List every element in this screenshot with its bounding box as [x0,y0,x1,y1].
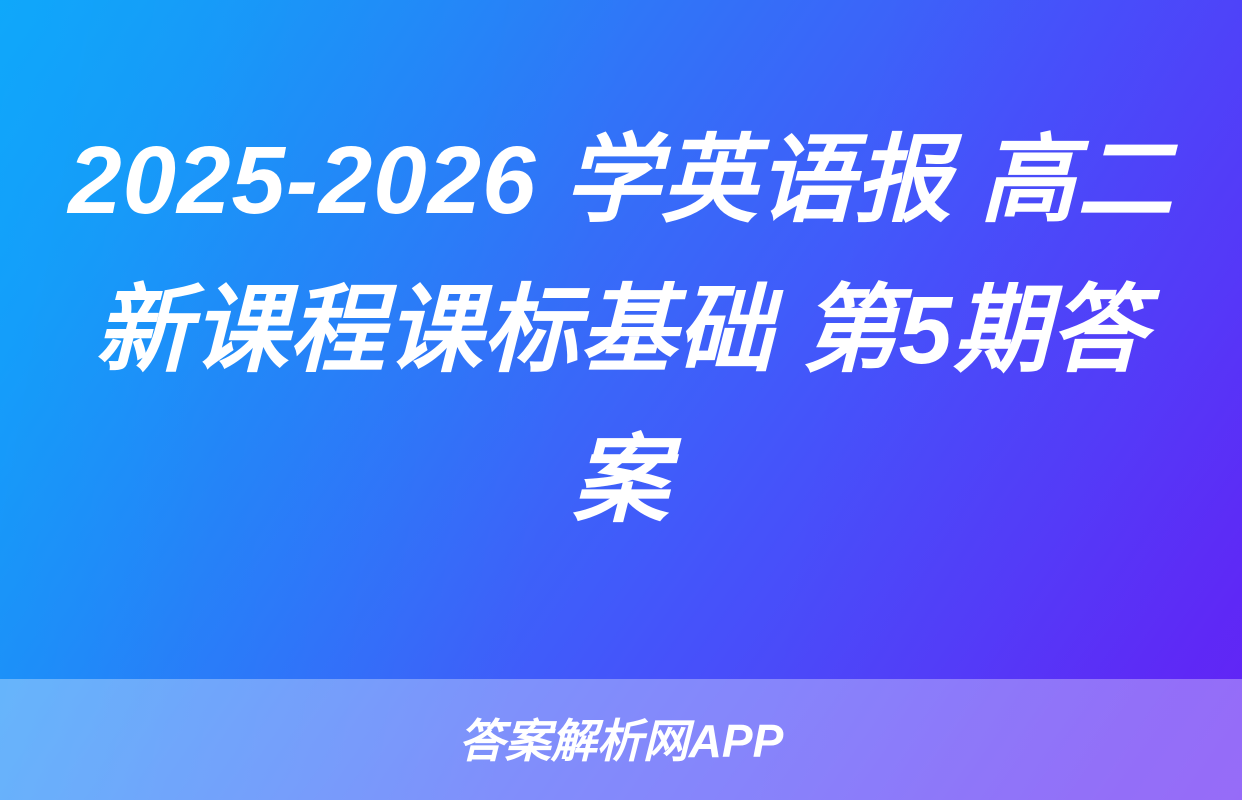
footer-brand-label: 答案解析网APP [459,715,784,767]
poster-canvas: 2025-2026 学英语报 高二 新课程课标基础 第5期答案 答案解析网APP [0,0,1242,800]
footer-brand-band: 答案解析网APP [0,679,1242,800]
headline-container: 2025-2026 学英语报 高二 新课程课标基础 第5期答案 [0,0,1242,679]
page-title: 2025-2026 学英语报 高二 新课程课标基础 第5期答案 [56,106,1186,556]
